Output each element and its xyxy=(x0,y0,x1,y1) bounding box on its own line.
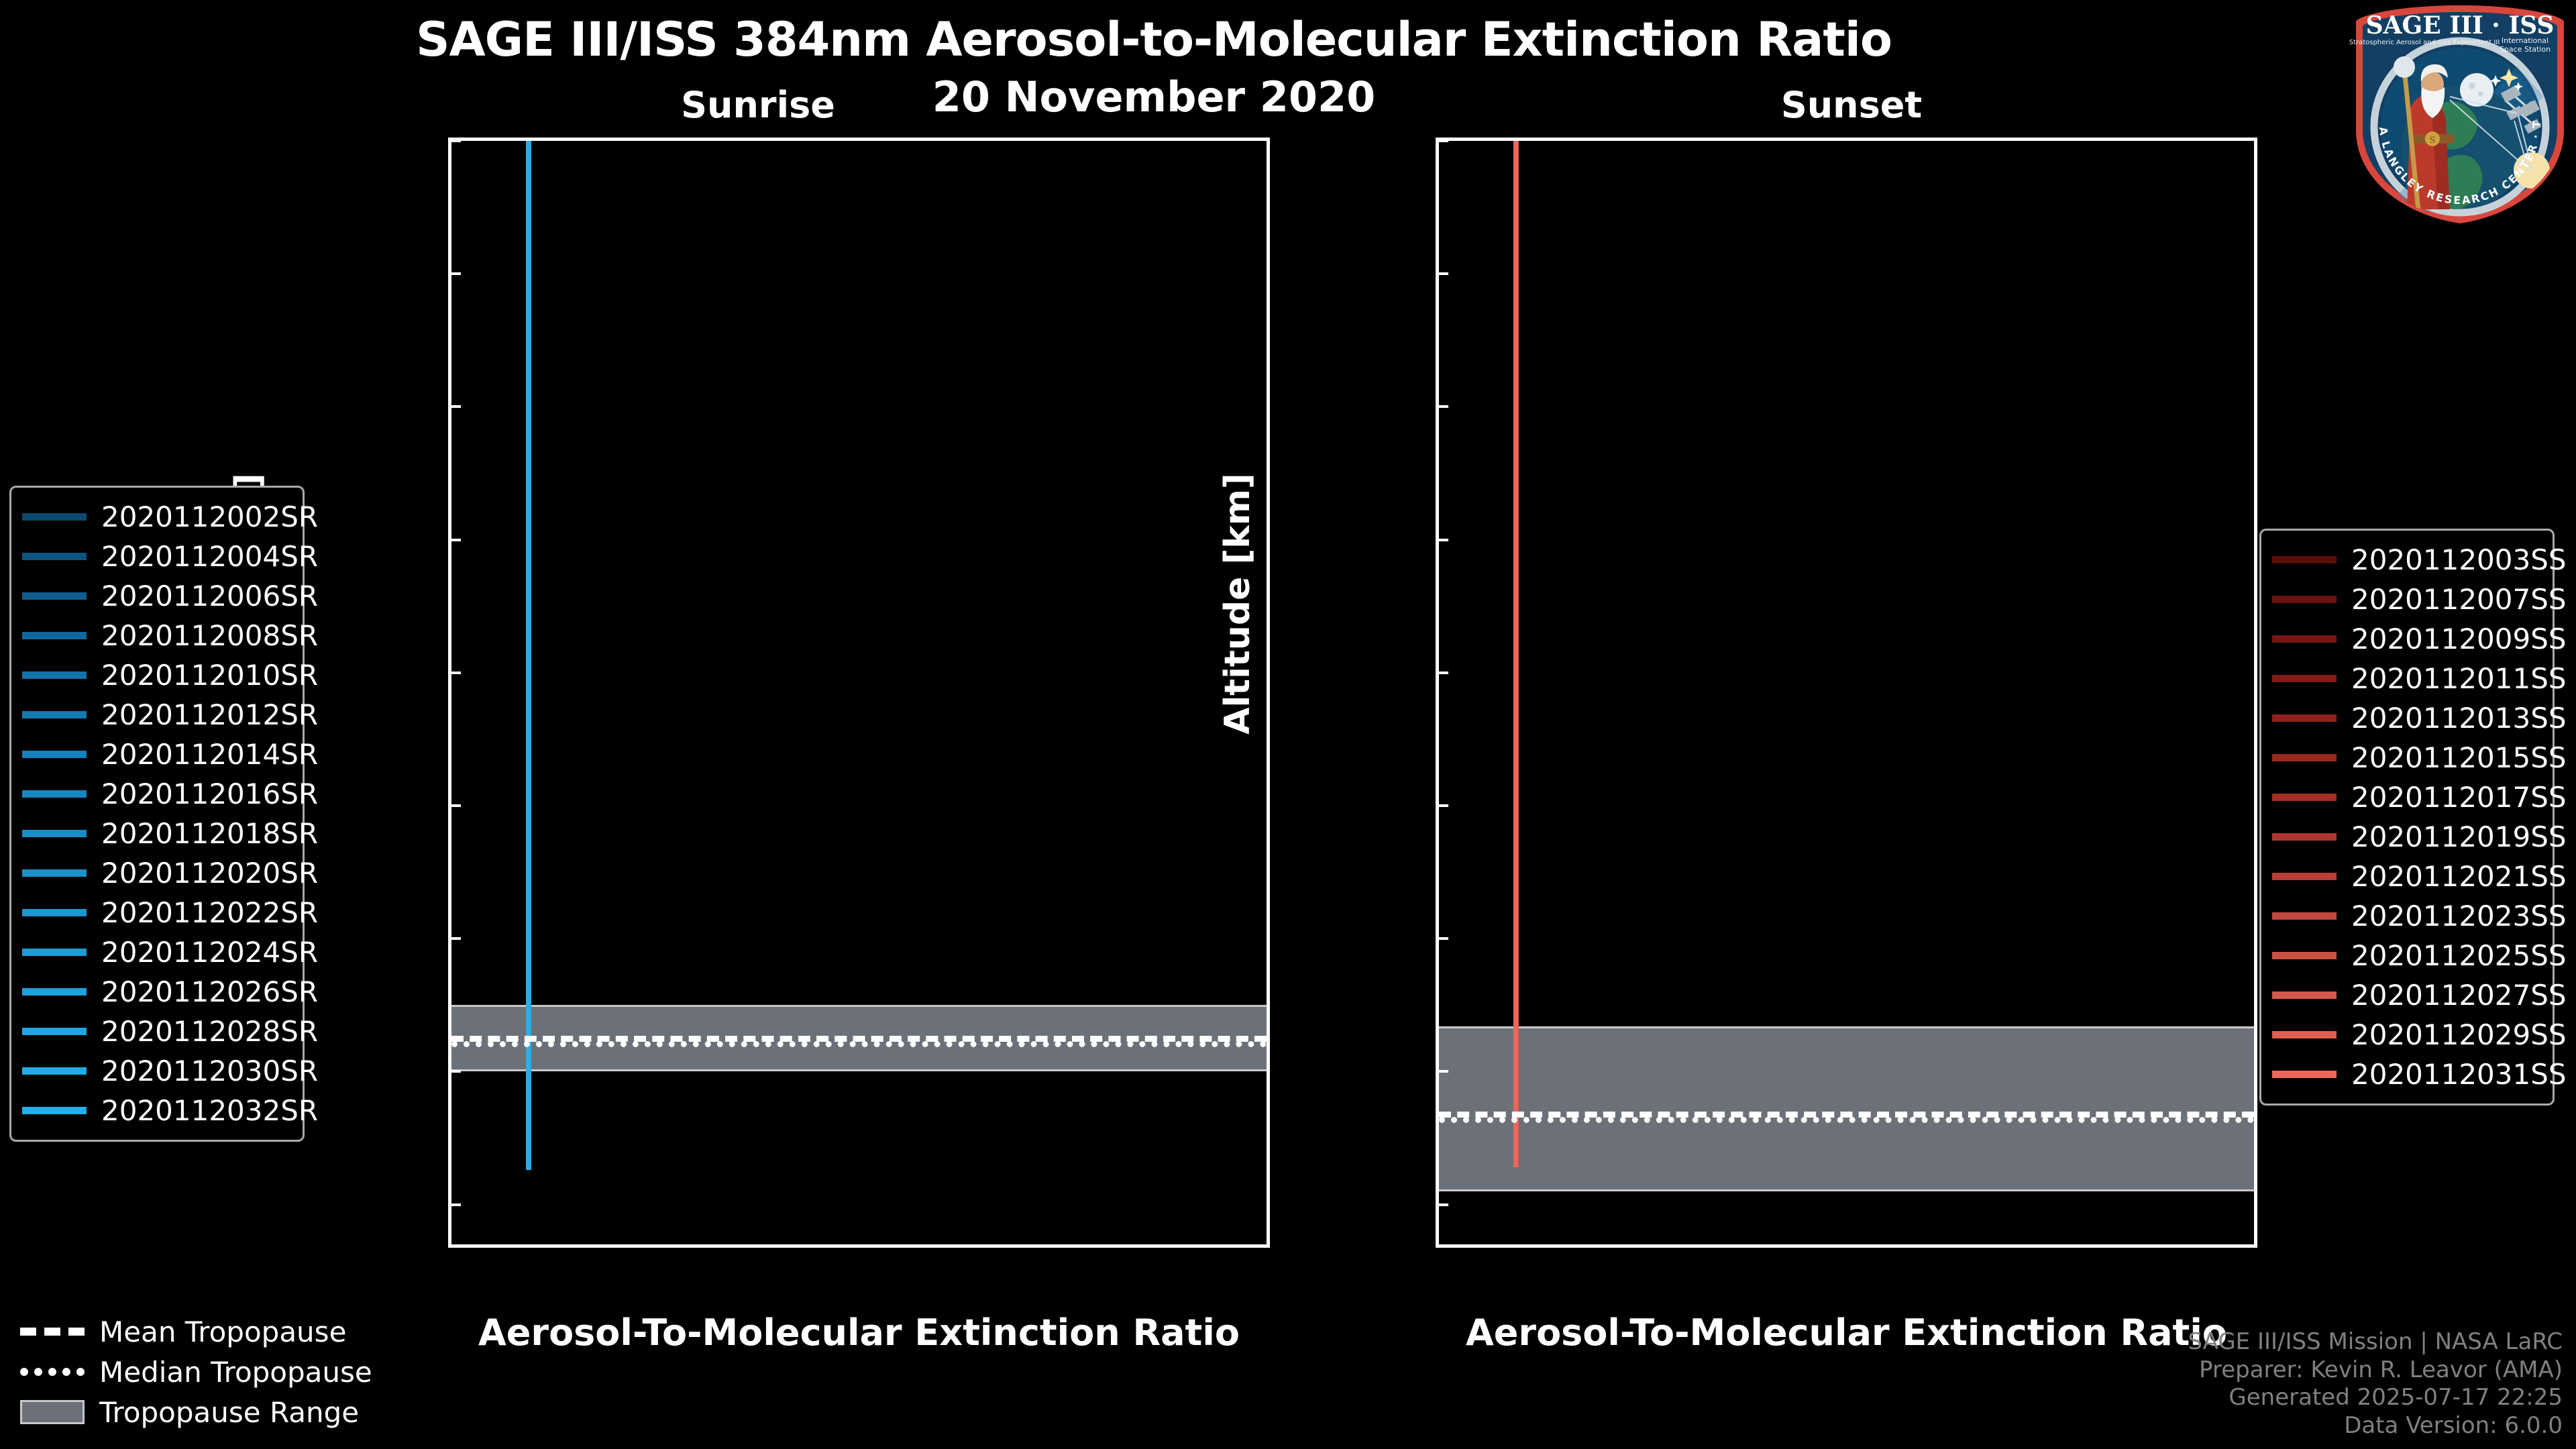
legend-item[interactable]: 2020112011SS xyxy=(2272,659,2539,698)
legend-item[interactable]: 2020112021SS xyxy=(2272,857,2539,896)
legend-color-swatch xyxy=(22,592,87,600)
legend-item[interactable]: 2020112002SR xyxy=(22,497,289,537)
credit-data-version: Data Version: 6.0.0 xyxy=(2188,1412,2563,1440)
credit-preparer: Preparer: Kevin R. Leavor (AMA) xyxy=(2188,1356,2563,1384)
legend-item-mean-tropopause: Mean Tropopause xyxy=(20,1311,436,1352)
legend-item[interactable]: 2020112018SR xyxy=(22,814,289,853)
legend-color-swatch xyxy=(22,790,87,798)
legend-color-swatch xyxy=(22,1107,87,1114)
profile-line xyxy=(526,141,531,1170)
patch-subtitle-right-1: International xyxy=(2502,36,2548,45)
legend-color-swatch xyxy=(2272,714,2337,722)
sunset-plot-area: 101520253035404550020406080100 xyxy=(1436,138,2257,1248)
legend-item[interactable]: 2020112030SR xyxy=(22,1051,289,1091)
page-title: SAGE III/ISS 384nm Aerosol-to-Molecular … xyxy=(0,12,2308,67)
legend-label: 2020112022SR xyxy=(101,896,318,929)
legend-item[interactable]: 2020112016SR xyxy=(22,774,289,814)
legend-item[interactable]: 2020112019SS xyxy=(2272,817,2539,857)
legend-label: 2020112021SS xyxy=(2351,860,2567,893)
sunset-x-axis-label: Aerosol-To-Molecular Extinction Ratio xyxy=(1436,1311,2257,1354)
dotted-line-icon xyxy=(20,1368,85,1376)
legend-label: 2020112020SR xyxy=(101,857,318,890)
legend-item[interactable]: 2020112024SR xyxy=(22,932,289,972)
credit-generated: Generated 2025-07-17 22:25 xyxy=(2188,1384,2563,1411)
sunrise-plot-area: 101520253035404550020406080100 xyxy=(448,138,1270,1248)
legend-label: 2020112006SR xyxy=(101,580,318,612)
legend-label: 2020112012SR xyxy=(101,698,318,731)
tropopause-legend: Mean Tropopause Median Tropopause Tropop… xyxy=(20,1311,436,1432)
legend-label: 2020112013SS xyxy=(2351,702,2567,735)
legend-item[interactable]: 2020112010SR xyxy=(22,655,289,695)
legend-color-swatch xyxy=(2272,991,2337,999)
legend-item[interactable]: 2020112012SR xyxy=(22,695,289,735)
credit-mission: SAGE III/ISS Mission | NASA LaRC xyxy=(2188,1328,2563,1356)
legend-item[interactable]: 2020112006SR xyxy=(22,576,289,616)
legend-label: 2020112031SS xyxy=(2351,1058,2567,1091)
sunrise-x-axis-label: Aerosol-To-Molecular Extinction Ratio xyxy=(448,1311,1270,1354)
profile-line xyxy=(1513,141,1518,1167)
legend-color-swatch xyxy=(22,751,87,758)
sunset-panel-title: Sunset xyxy=(1717,84,1986,126)
legend-item[interactable]: 2020112014SR xyxy=(22,735,289,774)
legend-color-swatch xyxy=(2272,635,2337,643)
legend-color-swatch xyxy=(2272,1071,2337,1078)
legend-item[interactable]: 2020112026SR xyxy=(22,972,289,1012)
legend-color-swatch xyxy=(22,1067,87,1075)
legend-item-tropopause-range: Tropopause Range xyxy=(20,1392,436,1432)
legend-color-swatch xyxy=(22,830,87,837)
legend-color-swatch xyxy=(22,949,87,956)
legend-label: 2020112026SR xyxy=(101,975,318,1008)
legend-item[interactable]: 2020112013SS xyxy=(2272,698,2539,738)
legend-label: 2020112029SS xyxy=(2351,1018,2567,1051)
legend-item[interactable]: 2020112025SS xyxy=(2272,936,2539,975)
legend-label: 2020112004SR xyxy=(101,540,318,573)
legend-color-swatch xyxy=(22,869,87,877)
legend-item[interactable]: 2020112029SS xyxy=(2272,1015,2539,1055)
median-tropopause-line xyxy=(1439,1117,2254,1123)
legend-label: 2020112019SS xyxy=(2351,820,2567,853)
legend-label: 2020112024SR xyxy=(101,936,318,969)
legend-item[interactable]: 2020112031SS xyxy=(2272,1055,2539,1094)
sunrise-panel-title: Sunrise xyxy=(624,84,892,126)
legend-color-swatch xyxy=(2272,754,2337,761)
legend-label: 2020112009SS xyxy=(2351,623,2567,655)
legend-label: 2020112017SS xyxy=(2351,781,2567,814)
legend-label: 2020112008SR xyxy=(101,619,318,652)
legend-item[interactable]: 2020112009SS xyxy=(2272,619,2539,659)
legend-label: 2020112030SR xyxy=(101,1055,318,1087)
svg-text:S: S xyxy=(2430,136,2436,146)
legend-label: 2020112016SR xyxy=(101,777,318,810)
legend-item[interactable]: 2020112032SR xyxy=(22,1091,289,1130)
sunrise-legend[interactable]: 2020112002SR2020112004SR2020112006SR2020… xyxy=(9,486,305,1142)
legend-label: 2020112032SR xyxy=(101,1094,318,1127)
legend-item[interactable]: 2020112027SS xyxy=(2272,975,2539,1015)
legend-color-swatch xyxy=(2272,1031,2337,1038)
patch-subtitle-left: Stratospheric Aerosol and Gas Experiment… xyxy=(2349,39,2500,46)
legend-label: 2020112007SS xyxy=(2351,583,2567,616)
patch-title: SAGE III · ISS xyxy=(2366,11,2555,40)
legend-color-swatch xyxy=(2272,873,2337,880)
credits-block: SAGE III/ISS Mission | NASA LaRC Prepare… xyxy=(2188,1328,2563,1440)
legend-item[interactable]: 2020112008SR xyxy=(22,616,289,655)
legend-label: 2020112025SS xyxy=(2351,939,2567,972)
patch-subtitle-right-2: Space Station xyxy=(2500,45,2551,54)
tropopause-range-band xyxy=(1439,1026,2254,1191)
legend-label: 2020112015SS xyxy=(2351,741,2567,774)
legend-label: 2020112028SR xyxy=(101,1015,318,1048)
legend-label: 2020112003SS xyxy=(2351,543,2567,576)
legend-item[interactable]: 2020112023SS xyxy=(2272,896,2539,936)
sunset-y-axis-label: Altitude [km] xyxy=(1218,470,1258,738)
legend-color-swatch xyxy=(22,632,87,639)
legend-item[interactable]: 2020112020SR xyxy=(22,853,289,893)
legend-color-swatch xyxy=(2272,675,2337,682)
legend-label: 2020112018SR xyxy=(101,817,318,850)
legend-color-swatch xyxy=(22,1028,87,1035)
sage3-iss-mission-patch: S BALL · NASA LANGLEY RESEARCH CENTER · … xyxy=(2349,3,2571,224)
legend-item[interactable]: 2020112028SR xyxy=(22,1012,289,1051)
legend-color-swatch xyxy=(2272,912,2337,920)
legend-color-swatch xyxy=(2272,556,2337,563)
legend-label: Mean Tropopause xyxy=(99,1316,346,1348)
legend-item[interactable]: 2020112022SR xyxy=(22,893,289,932)
legend-color-swatch xyxy=(22,553,87,560)
legend-color-swatch xyxy=(22,909,87,916)
legend-item[interactable]: 2020112003SS xyxy=(2272,540,2539,580)
legend-label: 2020112023SS xyxy=(2351,900,2567,932)
legend-label: 2020112011SS xyxy=(2351,662,2567,695)
legend-color-swatch xyxy=(2272,794,2337,801)
legend-color-swatch xyxy=(2272,952,2337,959)
legend-color-swatch xyxy=(22,711,87,718)
legend-item[interactable]: 2020112007SS xyxy=(2272,580,2539,619)
legend-item[interactable]: 2020112004SR xyxy=(22,537,289,576)
legend-item-median-tropopause: Median Tropopause xyxy=(20,1352,436,1392)
sunset-legend[interactable]: 2020112003SS2020112007SS2020112009SS2020… xyxy=(2259,529,2555,1106)
legend-color-swatch xyxy=(2272,833,2337,841)
mission-patch-icon: S BALL · NASA LANGLEY RESEARCH CENTER · … xyxy=(2349,3,2571,224)
legend-color-swatch xyxy=(22,988,87,996)
legend-label: 2020112014SR xyxy=(101,738,318,771)
legend-label: 2020112002SR xyxy=(101,500,318,533)
legend-label: 2020112010SR xyxy=(101,659,318,692)
legend-color-swatch xyxy=(22,672,87,679)
legend-color-swatch xyxy=(2272,596,2337,603)
legend-color-swatch xyxy=(22,513,87,521)
filled-band-icon xyxy=(20,1400,85,1424)
dashed-line-icon xyxy=(20,1328,85,1336)
legend-item[interactable]: 2020112017SS xyxy=(2272,777,2539,817)
legend-label: Tropopause Range xyxy=(99,1396,359,1429)
legend-label: 2020112027SS xyxy=(2351,979,2567,1012)
legend-label: Median Tropopause xyxy=(99,1356,372,1389)
median-tropopause-line xyxy=(451,1041,1267,1047)
legend-item[interactable]: 2020112015SS xyxy=(2272,738,2539,777)
